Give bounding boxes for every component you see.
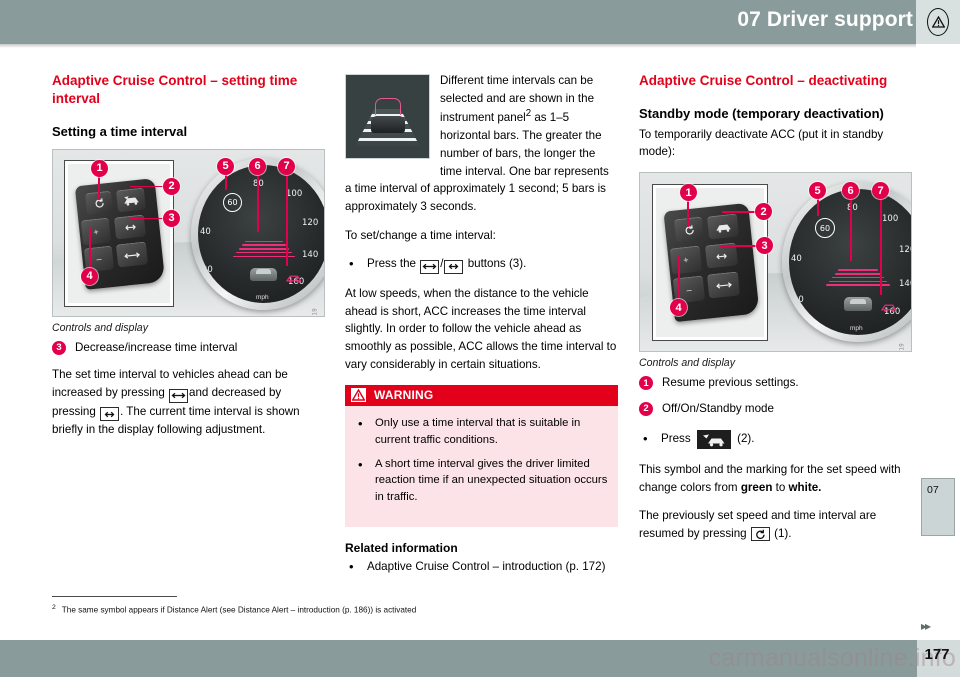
warning-item-2: A short time interval gives the driver l… — [349, 456, 608, 507]
resume-button[interactable] — [674, 217, 704, 243]
minus-icon: – — [686, 285, 692, 294]
col3-subheading: Standby mode (temporary deactivation) — [639, 106, 912, 123]
callout-4: 4 — [81, 268, 98, 285]
acc-active-symbol-icon — [286, 273, 302, 284]
bullet-press-b: buttons (3). — [468, 257, 527, 270]
bullet-press-a: Press the — [367, 257, 416, 270]
bullet-press-acc-button: Press (2). — [639, 428, 912, 450]
speedo-tick-120: 120 — [302, 218, 318, 228]
callout-2: 2 — [163, 178, 180, 195]
leader-line-1 — [98, 176, 100, 200]
plus-icon: + — [93, 227, 99, 237]
lead-vehicle-graphic — [371, 116, 405, 133]
steering-wheel-control-panel: + – — [652, 184, 768, 341]
speed-increase-button[interactable]: + — [81, 217, 111, 245]
col2-paragraph-set: To set/change a time interval: — [345, 227, 618, 245]
col3-colors-green: green — [741, 481, 773, 494]
warning-title: WARNING — [374, 388, 433, 402]
speedo-tick-140: 140 — [302, 250, 318, 260]
footnote-block: 2The same symbol appears if Distance Ale… — [52, 596, 612, 616]
time-interval-increase-button[interactable] — [116, 241, 148, 267]
speedo-tick-20: 20 — [793, 295, 804, 305]
speedo-tick-40: 40 — [200, 227, 211, 237]
col3-paragraph-resume: The previously set speed and time interv… — [639, 507, 912, 542]
warning-triangle-icon — [351, 388, 366, 402]
legend-label-1: Resume previous settings. — [662, 375, 799, 392]
leader-line-4 — [89, 228, 91, 270]
figure-caption-left: Controls and display — [52, 322, 325, 334]
legend-label-2: Off/On/Standby mode — [662, 401, 774, 418]
chapter-tab-07[interactable]: 07 — [921, 478, 955, 536]
col2-paragraph-lowspeed: At low speeds, when the distance to the … — [345, 285, 618, 374]
legend-list-right: 1 Resume previous settings. 2 Off/On/Sta… — [639, 375, 912, 418]
short-arrow-icon — [444, 260, 463, 274]
figure-controls-display-right: + – — [639, 172, 912, 352]
time-interval-bars — [829, 269, 887, 288]
col1-paragraph-1: The set time interval to vehicles ahead … — [52, 366, 325, 438]
col1-heading: Adaptive Cruise Control – setting time i… — [52, 72, 325, 108]
manual-page: 07 Driver support Adaptive Cruise Contro… — [0, 0, 960, 677]
speedo-tick-140: 140 — [899, 279, 912, 289]
col2-intro-a: Different time intervals can be selected… — [440, 74, 594, 124]
callout-6: 6 — [249, 158, 266, 175]
callout-3: 3 — [163, 210, 180, 227]
lead-car-symbol-icon — [250, 268, 277, 281]
header-shadow — [0, 44, 916, 48]
warning-body: Only use a time interval that is suitabl… — [345, 406, 618, 528]
callout-7: 7 — [278, 158, 295, 175]
leader-line-1 — [687, 201, 689, 227]
legend-row-2: 2 Off/On/Standby mode — [639, 401, 912, 418]
time-interval-bars — [236, 241, 292, 260]
bullet-press-buttons: Press the / buttons (3). — [345, 255, 618, 274]
speedo-tick-40: 40 — [791, 254, 802, 264]
speed-limit-sign-icon: 60 — [223, 193, 242, 212]
footnote-rule — [52, 596, 177, 597]
footer-band — [0, 640, 917, 677]
footnote-body: The same symbol appears if Distance Aler… — [62, 606, 417, 615]
column-right: Adaptive Cruise Control – deactivating S… — [639, 72, 912, 554]
figure-controls-display-left: + – — [52, 149, 325, 317]
header-warning-tab — [916, 0, 960, 44]
illustration-code: G046019 — [312, 308, 318, 317]
legend-badge-2: 2 — [639, 402, 653, 416]
acc-onoff-button[interactable] — [116, 187, 146, 212]
speedometer: 20 40 60 80 100 120 140 160 mph 60 — [782, 182, 912, 342]
col3-resume-b: (1). — [774, 527, 791, 540]
col3-bullet-press-a: Press — [661, 432, 691, 445]
time-interval-display-photo — [345, 74, 430, 159]
speed-limit-sign-icon: 60 — [815, 218, 835, 238]
footnote-text: 2The same symbol appears if Distance Ale… — [52, 603, 612, 616]
resume-arrow-icon — [751, 527, 770, 541]
col3-paragraph-colors: This symbol and the marking for the set … — [639, 461, 912, 496]
col3-paragraph-intro: To temporarily deactivate ACC (put it in… — [639, 126, 912, 161]
page-number: 177 — [917, 646, 957, 663]
col3-heading: Adaptive Cruise Control – deactivating — [639, 72, 912, 90]
speed-increase-button[interactable]: + — [670, 246, 703, 275]
footnote-marker: 2 — [52, 604, 56, 611]
warning-header: WARNING — [345, 385, 618, 406]
col2-press-bullets: Press the / buttons (3). — [345, 255, 618, 274]
leader-line-6 — [850, 199, 852, 261]
column-middle: Different time intervals can be selected… — [345, 72, 618, 587]
speedo-unit-label: mph — [256, 294, 269, 301]
lead-car-symbol-icon — [844, 297, 872, 311]
leader-line-4 — [678, 255, 680, 301]
speedo-tick-120: 120 — [899, 245, 912, 255]
illustration-code: G046019 — [899, 343, 905, 352]
callout-1: 1 — [91, 160, 108, 177]
leader-line-5 — [225, 174, 227, 190]
warning-triangle-icon — [927, 8, 949, 36]
interval-arc-icon — [375, 98, 401, 115]
leader-line-5 — [817, 199, 819, 216]
steering-wheel-control-panel: + – — [64, 160, 174, 307]
time-interval-increase-button[interactable] — [707, 272, 740, 299]
long-arrow-icon — [420, 260, 439, 274]
col3-press-bullets: Press (2). — [639, 428, 912, 450]
speedo-tick-80: 80 — [847, 203, 858, 213]
related-link-acc-introduction[interactable]: Adaptive Cruise Control – introduction (… — [345, 558, 618, 575]
next-page-arrows-icon[interactable]: ▸▸ — [921, 619, 929, 633]
leader-line-7 — [880, 199, 882, 295]
minus-icon: – — [96, 254, 102, 263]
related-information-list: Adaptive Cruise Control – introduction (… — [345, 558, 618, 575]
warning-box: WARNING Only use a time interval that is… — [345, 385, 618, 528]
page-title: 07 Driver support — [737, 8, 913, 32]
long-arrow-icon — [169, 389, 188, 403]
speedometer-face: 20 40 60 80 100 120 140 160 mph 60 — [198, 165, 325, 303]
related-information-title: Related information — [345, 541, 618, 555]
column-left: Adaptive Cruise Control – setting time i… — [52, 72, 325, 450]
speedo-unit-label: mph — [850, 325, 863, 332]
col3-colors-mid: to — [772, 481, 788, 494]
speedo-tick-100: 100 — [882, 214, 898, 224]
short-arrow-icon — [100, 407, 119, 421]
warning-items: Only use a time interval that is suitabl… — [349, 415, 608, 507]
legend-row-1: 1 Resume previous settings. — [639, 375, 912, 392]
warning-item-1: Only use a time interval that is suitabl… — [349, 415, 608, 449]
plus-icon: + — [683, 256, 689, 266]
acc-active-symbol-icon — [881, 302, 897, 313]
callout-5: 5 — [217, 158, 234, 175]
legend-list-left: 3 Decrease/increase time interval — [52, 340, 325, 357]
legend-badge-3: 3 — [52, 341, 66, 355]
acc-onoff-button[interactable] — [707, 214, 739, 240]
leader-line-6 — [257, 174, 259, 232]
acc-onoff-symbol-icon — [697, 430, 731, 449]
legend-row-3: 3 Decrease/increase time interval — [52, 340, 325, 357]
leader-line-7 — [286, 174, 288, 266]
page-header: 07 Driver support — [0, 0, 960, 44]
speedo-tick-100: 100 — [286, 189, 302, 199]
speedo-tick-20: 20 — [202, 265, 213, 275]
legend-badge-1: 1 — [639, 376, 653, 390]
figure-caption-right: Controls and display — [639, 357, 912, 369]
col3-colors-white: white. — [789, 481, 822, 494]
legend-label-3: Decrease/increase time interval — [75, 340, 237, 357]
col3-bullet-press-b: (2). — [737, 432, 754, 445]
col1-subheading: Setting a time interval — [52, 124, 325, 141]
